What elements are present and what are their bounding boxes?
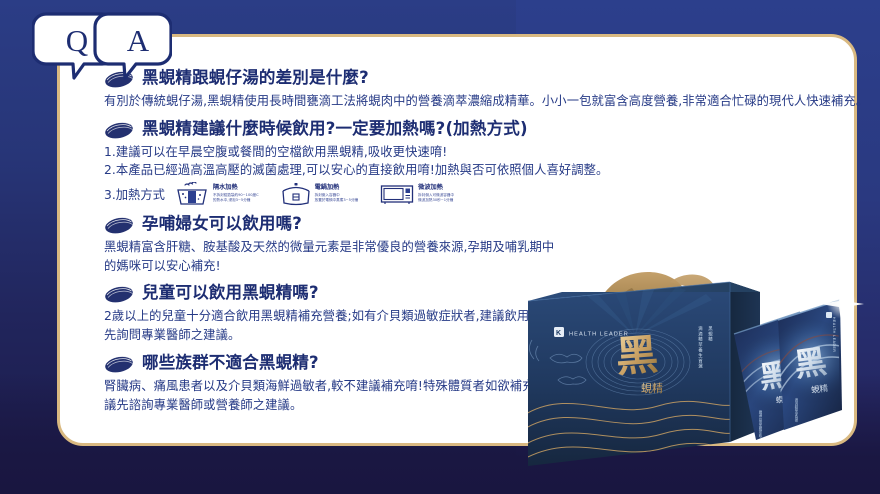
faq-card: 黑蜆精跟蜆仔湯的差別是什麼? 有別於傳統蜆仔湯,黑蜆精使用長時間甕滴工法將蜆肉中… — [57, 34, 857, 446]
faq-question-text: 黑蜆精跟蜆仔湯的差別是什麼? — [142, 69, 369, 88]
faq-question-row: 哪些族群不適合黑蜆精? — [104, 354, 838, 373]
faq-question-text: 兒童可以飲用黑蜆精嗎? — [142, 284, 319, 303]
heating-method-microwave: 微波加熱 拆封倒入可微波容器中 微波加熱30秒~1分鐘 — [380, 183, 454, 205]
clam-shell-icon — [104, 354, 134, 373]
faq-question-text: 黑蜆精建議什麼時候飲用?一定要加熱嗎?(加熱方式) — [142, 120, 528, 139]
heating-method-subtitle: 微波加熱30秒~1分鐘 — [418, 198, 454, 203]
faq-question-row: 黑蜆精建議什麼時候飲用?一定要加熱嗎?(加熱方式) — [104, 120, 838, 139]
faq-answer-line: 黑蜆精富含肝糖、胺基酸及天然的微量元素是非常優良的營養來源,孕期及哺乳期中 — [104, 238, 838, 257]
faq-answer: 有別於傳統蜆仔湯,黑蜆精使用長時間甕滴工法將蜆肉中的營養滴萃濃縮成精華。小小一包… — [104, 92, 838, 111]
heating-methods-row: 3.加熱方式 隔水加熱 — [104, 182, 838, 206]
heating-method-subtitle: 放置於電鍋中蒸煮3~5分鐘 — [315, 198, 359, 203]
answer-letter: A — [127, 23, 150, 58]
heating-method-title: 隔水加熱 — [213, 185, 259, 192]
heating-method-water-bath: 隔水加熱 不拆封鋁箔袋約90~100度C 的熱水中,浸泡3~5分鐘 — [175, 182, 259, 206]
faq-question-row: 兒童可以飲用黑蜆精嗎? — [104, 284, 838, 303]
question-letter: Q — [66, 23, 88, 58]
water-bath-heating-icon — [175, 182, 209, 206]
faq-list: 黑蜆精跟蜆仔湯的差別是什麼? 有別於傳統蜆仔湯,黑蜆精使用長時間甕滴工法將蜆肉中… — [104, 69, 838, 423]
faq-answer: 1.建議可以在早晨空腹或餐間的空檔飲用黑蜆精,吸收更快速唷! 2.本產品已經過高… — [104, 143, 838, 180]
faq-answer-line: 有別於傳統蜆仔湯,黑蜆精使用長時間甕滴工法將蜆肉中的營養滴萃濃縮成精華。小小一包… — [104, 92, 838, 111]
heating-method-text: 隔水加熱 不拆封鋁箔袋約90~100度C 的熱水中,浸泡3~5分鐘 — [213, 185, 259, 203]
faq-item-difference: 黑蜆精跟蜆仔湯的差別是什麼? 有別於傳統蜆仔湯,黑蜆精使用長時間甕滴工法將蜆肉中… — [104, 69, 838, 111]
faq-question-text: 哪些族群不適合黑蜆精? — [142, 354, 319, 373]
faq-answer-line: 2歲以上的兒童十分適合飲用黑蜆精補充營養;如有介貝類過敏症狀者,建議飲用前 — [104, 307, 838, 326]
faq-question-row: 黑蜆精跟蜆仔湯的差別是什麼? — [104, 69, 838, 88]
heating-method-title: 電鍋加熱 — [315, 185, 359, 192]
heating-method-title: 微波加熱 — [418, 185, 454, 192]
faq-item-when-to-drink: 黑蜆精建議什麼時候飲用?一定要加熱嗎?(加熱方式) 1.建議可以在早晨空腹或餐間… — [104, 120, 838, 206]
faq-item-children: 兒童可以飲用黑蜆精嗎? 2歲以上的兒童十分適合飲用黑蜆精補充營養;如有介貝類過敏… — [104, 284, 838, 344]
heating-method-rice-cooker: 電鍋加熱 拆封倒入容器中 放置於電鍋中蒸煮3~5分鐘 — [281, 182, 359, 206]
faq-answer-line: 議先諮詢專業醫師或營養師之建議。 — [104, 396, 838, 415]
faq-answer-line: 腎臟病、痛風患者以及介貝類海鮮過敏者,較不建議補充唷!特殊體質者如欲補充則建 — [104, 377, 838, 396]
faq-answer: 腎臟病、痛風患者以及介貝類海鮮過敏者,較不建議補充唷!特殊體質者如欲補充則建 議… — [104, 377, 838, 414]
clam-shell-icon — [104, 284, 134, 303]
faq-answer-line: 先詢問專業醫師之建議。 — [104, 326, 838, 345]
clam-shell-icon — [104, 215, 134, 234]
heating-method-subtitle: 的熱水中,浸泡3~5分鐘 — [213, 198, 259, 203]
faq-answer-line: 2.本產品已經過高溫高壓的滅菌處理,可以安心的直接飲用唷!加熱與否可依照個人喜好… — [104, 161, 838, 180]
faq-question-row: 孕哺婦女可以飲用嗎? — [104, 215, 838, 234]
microwave-heating-icon — [380, 183, 414, 205]
faq-item-not-suitable: 哪些族群不適合黑蜆精? 腎臟病、痛風患者以及介貝類海鮮過敏者,較不建議補充唷!特… — [104, 354, 838, 414]
faq-banner: 黑蜆精跟蜆仔湯的差別是什麼? 有別於傳統蜆仔湯,黑蜆精使用長時間甕滴工法將蜆肉中… — [0, 0, 880, 494]
faq-answer: 黑蜆精富含肝糖、胺基酸及天然的微量元素是非常優良的營養來源,孕期及哺乳期中 的媽… — [104, 238, 838, 275]
faq-answer-line: 1.建議可以在早晨空腹或餐間的空檔飲用黑蜆精,吸收更快速唷! — [104, 143, 838, 162]
heating-method-text: 微波加熱 拆封倒入可微波容器中 微波加熱30秒~1分鐘 — [418, 185, 454, 203]
faq-answer: 2歲以上的兒童十分適合飲用黑蜆精補充營養;如有介貝類過敏症狀者,建議飲用前 先詢… — [104, 307, 838, 344]
heating-methods-label: 3.加熱方式 — [104, 185, 165, 203]
faq-question-text: 孕哺婦女可以飲用嗎? — [142, 215, 302, 234]
answer-bubble: A — [95, 14, 171, 78]
qa-speech-bubbles: Q A — [32, 8, 172, 84]
faq-answer-line: 的媽咪可以安心補充! — [104, 257, 838, 276]
faq-item-pregnant-nursing: 孕哺婦女可以飲用嗎? 黑蜆精富含肝糖、胺基酸及天然的微量元素是非常優良的營養來源… — [104, 215, 838, 275]
heating-method-text: 電鍋加熱 拆封倒入容器中 放置於電鍋中蒸煮3~5分鐘 — [315, 185, 359, 203]
rice-cooker-heating-icon — [281, 182, 311, 206]
clam-shell-icon — [104, 120, 134, 139]
